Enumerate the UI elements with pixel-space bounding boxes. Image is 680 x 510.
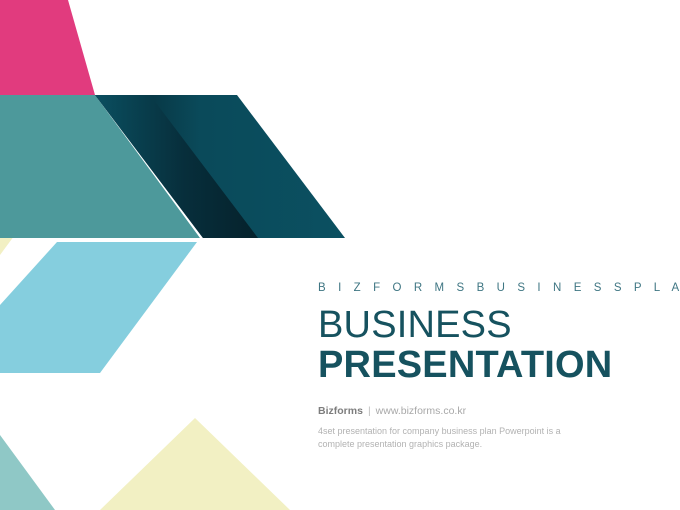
lightblue-parallelogram [0, 242, 197, 373]
teal-pale-triangle-bottom-left [0, 435, 55, 510]
title-text-block: B I Z F O R M S B U S I N E S S P L A N … [318, 283, 658, 451]
presentation-slide: B I Z F O R M S B U S I N E S S P L A N … [0, 0, 680, 510]
pink-triangle-body [0, 0, 95, 95]
slide-title-line-2: PRESENTATION [318, 345, 658, 385]
brand-name: Bizforms [318, 405, 363, 417]
meta-separator: | [363, 405, 376, 417]
brand-meta-line: Bizforms|www.bizforms.co.kr [318, 405, 658, 418]
slide-eyebrow-label: B I Z F O R M S B U S I N E S S P L A N [318, 283, 658, 295]
brand-url[interactable]: www.bizforms.co.kr [376, 405, 466, 417]
yellow-triangle-bottom [100, 418, 290, 510]
slide-title-line-1: BUSINESS [318, 305, 658, 345]
slide-description: 4set presentation for company business p… [318, 425, 586, 451]
